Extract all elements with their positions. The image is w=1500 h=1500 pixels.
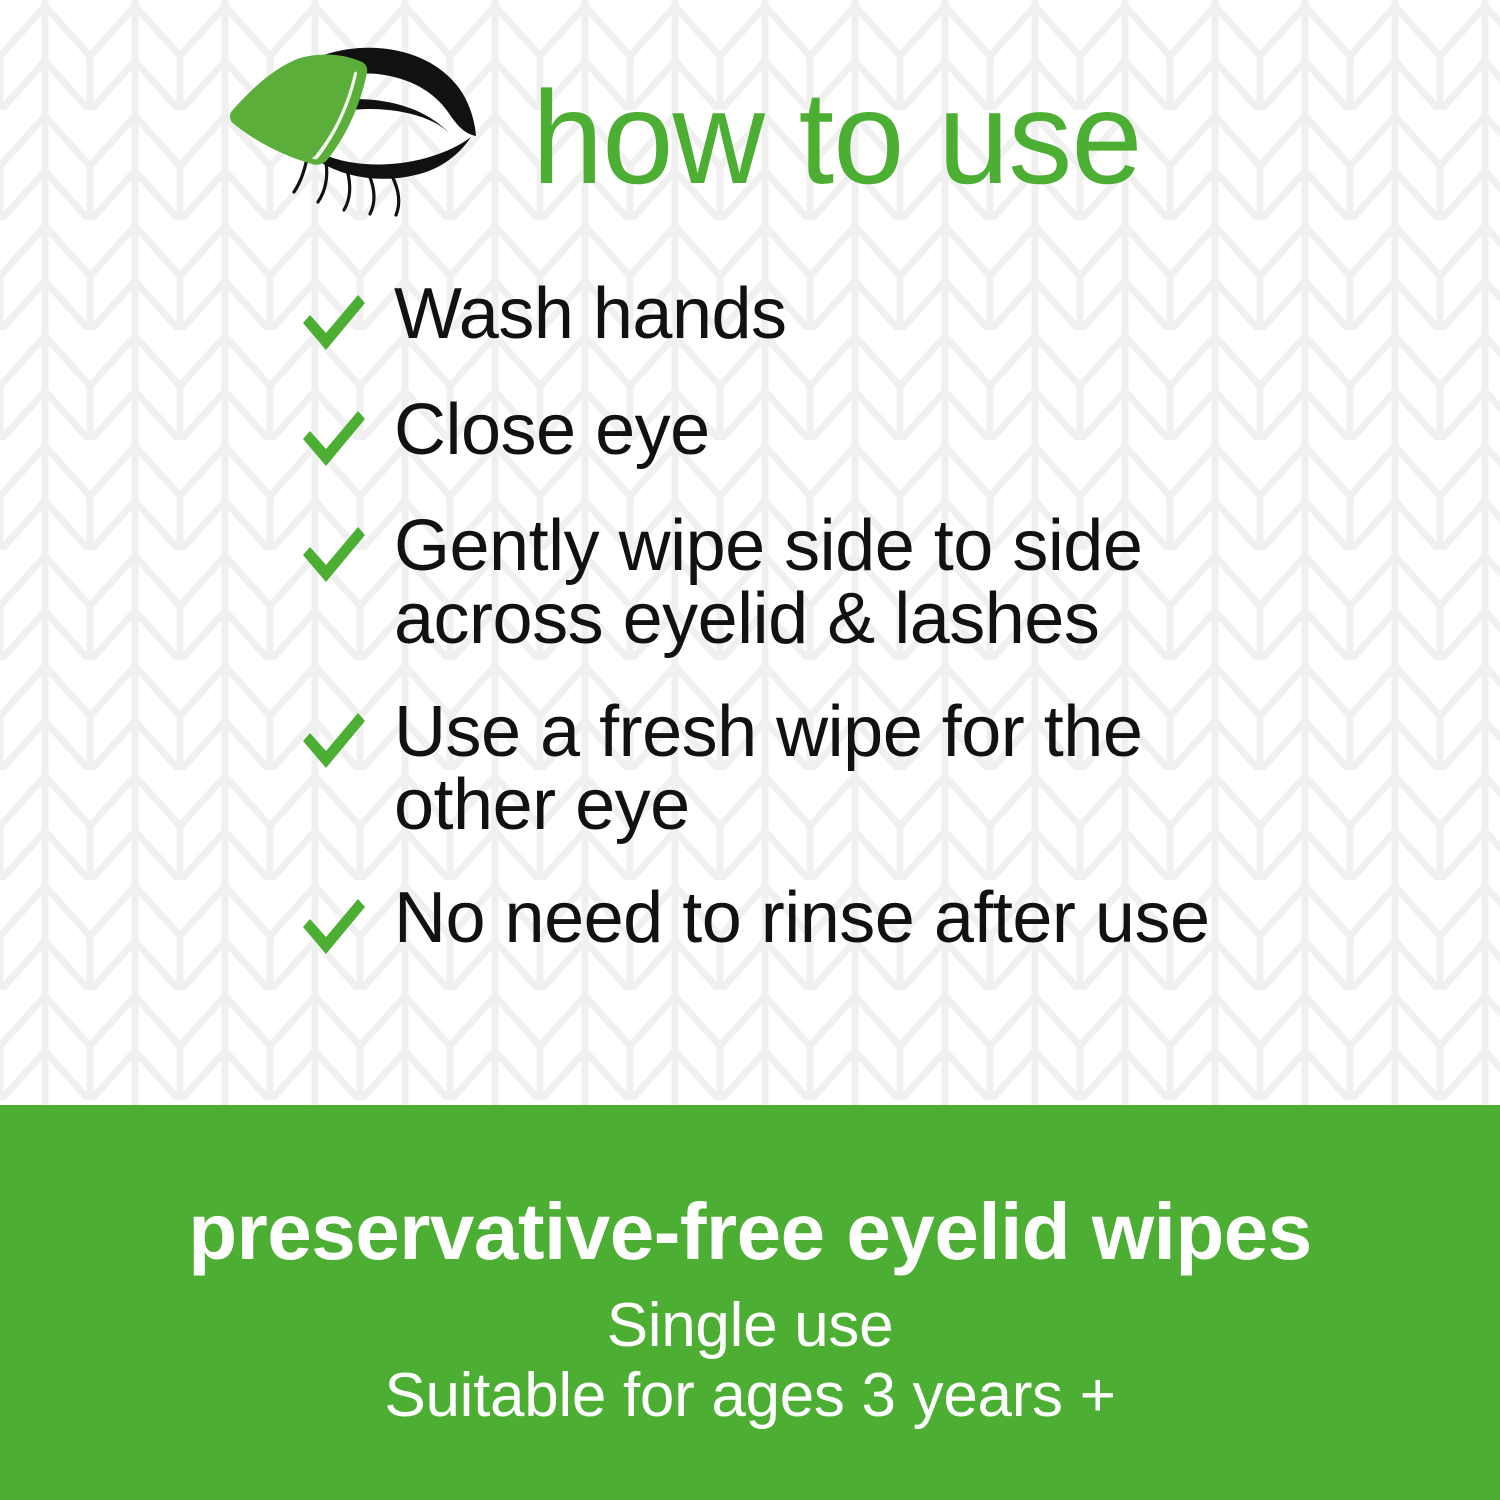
check-icon [300, 896, 368, 958]
banner-subline-single-use: Single use [607, 1291, 894, 1361]
list-item: Use a fresh wipe for the other eye [300, 696, 1310, 842]
list-item: No need to rinse after use [300, 882, 1310, 958]
check-icon [300, 292, 368, 354]
list-item: Wash hands [300, 278, 1310, 354]
check-icon [300, 524, 368, 586]
product-infographic: how to use Wash hands Close eye Gen [0, 0, 1500, 1500]
page-title: how to use [532, 72, 1142, 204]
list-item-label: Wash hands [394, 278, 787, 351]
how-to-use-checklist: Wash hands Close eye Gently wipe side to… [300, 278, 1310, 958]
product-banner: preservative-free eyelid wipes Single us… [0, 1105, 1500, 1500]
header: how to use [226, 34, 1226, 234]
list-item-label: Close eye [394, 394, 710, 467]
list-item-label: Use a fresh wipe for the other eye [394, 696, 1142, 842]
check-icon [300, 408, 368, 470]
upper-panel: how to use Wash hands Close eye Gen [0, 0, 1500, 1105]
check-icon [300, 710, 368, 772]
eye-with-wipe-icon [226, 40, 498, 230]
list-item: Gently wipe side to side across eyelid &… [300, 510, 1310, 656]
banner-subline-age: Suitable for ages 3 years + [384, 1361, 1115, 1431]
list-item-label: Gently wipe side to side across eyelid &… [394, 510, 1142, 656]
list-item-label: No need to rinse after use [394, 882, 1210, 955]
list-item: Close eye [300, 394, 1310, 470]
banner-headline: preservative-free eyelid wipes [188, 1191, 1311, 1273]
